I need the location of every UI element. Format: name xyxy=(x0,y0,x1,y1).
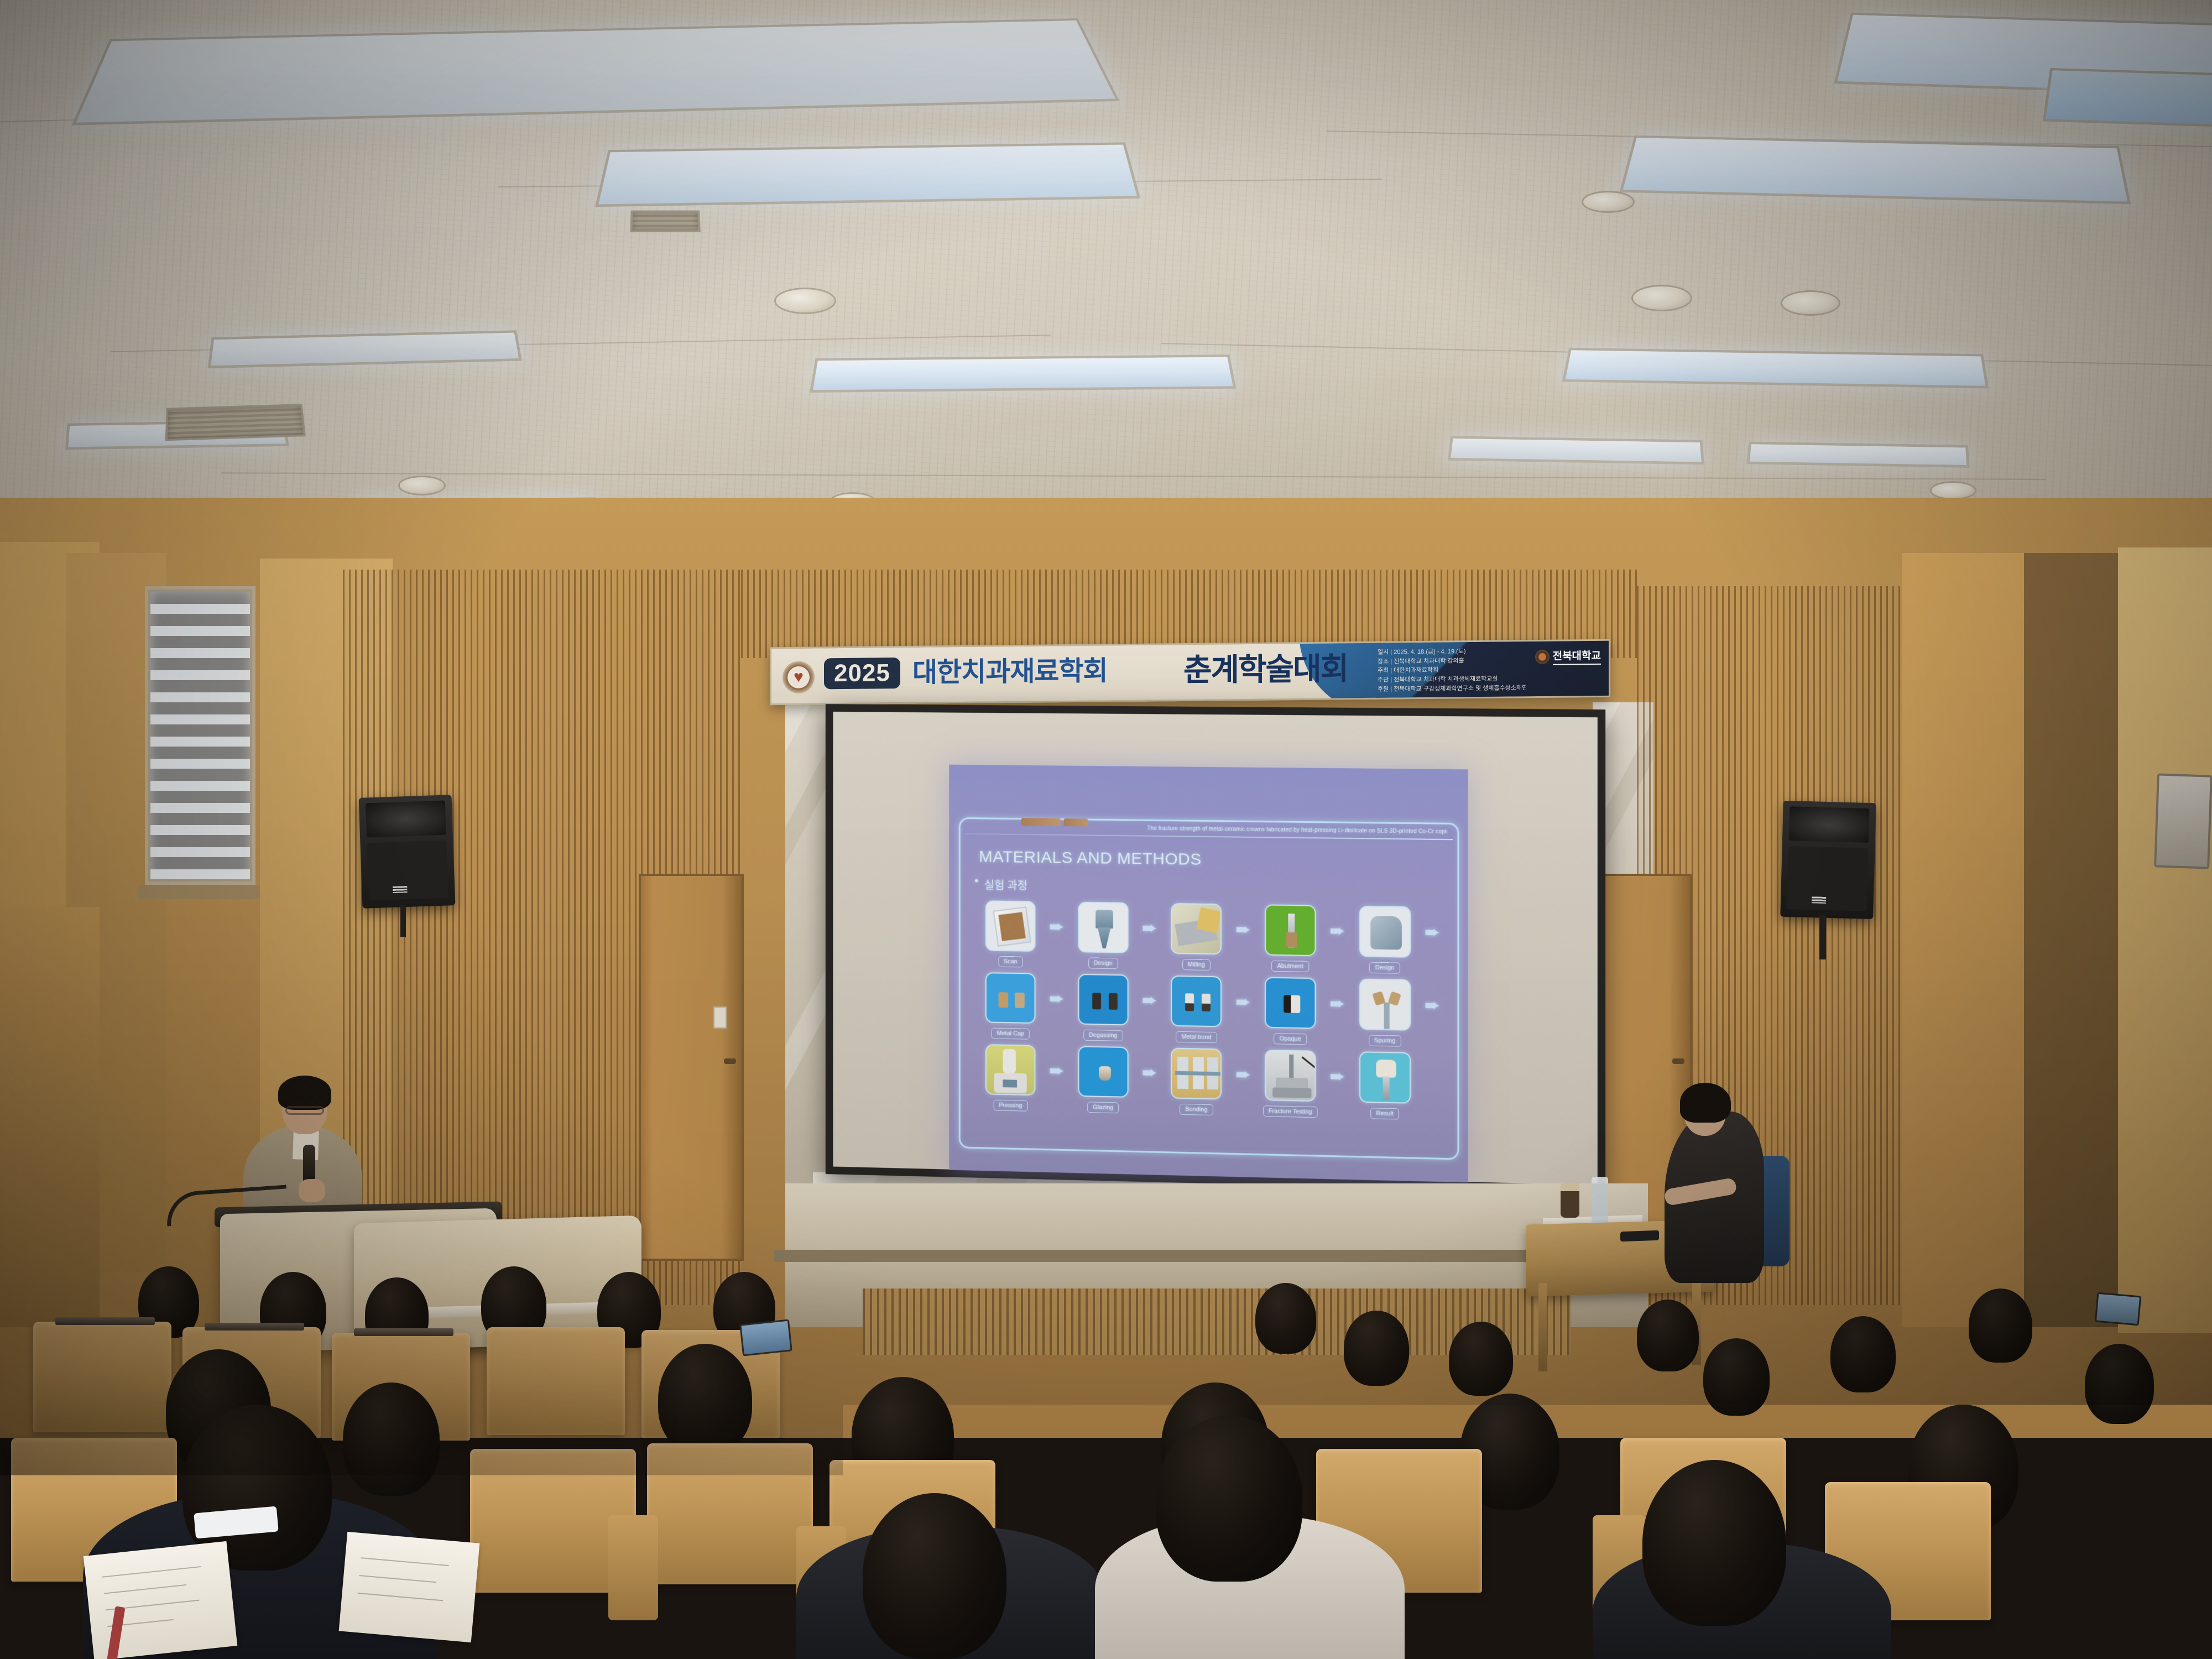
milling-tile xyxy=(1171,903,1222,954)
flow-arrow-icon: ➨ xyxy=(1137,1047,1162,1098)
slide-tab-decoration xyxy=(1021,818,1061,826)
flow-arrow-icon: ➨ xyxy=(1325,978,1350,1030)
text-line xyxy=(104,1584,186,1594)
text-line xyxy=(358,1593,444,1601)
ceiling-light-panel xyxy=(1562,348,1989,389)
audience-tablet-device[interactable] xyxy=(2095,1292,2141,1326)
lecture-hall-photo: ♥ 2025 대한치과재료학회 춘계학술대회 일시 | 2025. 4. 18.… xyxy=(0,0,2212,1659)
text-line xyxy=(1785,1504,1894,1520)
metal-cap-tile xyxy=(985,972,1036,1024)
audience-head xyxy=(1637,1300,1699,1371)
audience-head xyxy=(1969,1288,2032,1363)
wall-mounted-monitor xyxy=(2154,773,2212,869)
speaker-mount-bracket xyxy=(400,905,406,937)
table-leg xyxy=(1538,1283,1547,1371)
seat-armrest xyxy=(608,1515,658,1620)
workflow-step-label: Bonding xyxy=(1180,1104,1213,1115)
slide-border-frame: The fracture strength of metal-ceramic c… xyxy=(959,817,1459,1160)
workflow-step-label: Glazing xyxy=(1087,1102,1119,1113)
audience-head xyxy=(1642,1460,1786,1626)
text-line xyxy=(102,1566,201,1578)
workflow-step-label: Metal Cap xyxy=(992,1028,1030,1040)
workflow-step-label: Design xyxy=(1088,957,1118,969)
ceiling-downlight xyxy=(1781,290,1840,316)
banner-info-sponsor: 후원 | 전북대학교 구강생체과학연구소 및 생체흡수성소재연구소 xyxy=(1378,684,1526,694)
ceiling-light-panel xyxy=(595,142,1140,207)
workflow-step-label: Abutment xyxy=(1272,961,1309,972)
seat-tablet-arm[interactable] xyxy=(55,1317,155,1325)
workflow-step: Metal bond xyxy=(1162,975,1230,1044)
stage-left-door[interactable] xyxy=(639,874,744,1261)
audience-head xyxy=(1449,1322,1513,1396)
workflow-step-label: Milling xyxy=(1182,959,1211,971)
result-tile xyxy=(1359,1051,1411,1103)
workflow-row: Scan ➨ Design ➨ xyxy=(977,900,1445,974)
flow-arrow-icon: ➨ xyxy=(1230,977,1255,1028)
door-handle[interactable] xyxy=(724,1058,736,1064)
pressing-tile xyxy=(985,1044,1036,1095)
workflow-step: Metal Cap xyxy=(977,972,1044,1040)
banner-title-secondary: 춘계학술대회 xyxy=(1183,650,1348,688)
left-wall-speaker xyxy=(359,795,456,909)
ceiling-light-panel xyxy=(1746,442,1970,468)
projection-screen: The fracture strength of metal-ceramic c… xyxy=(826,704,1605,1193)
ceiling-downlight xyxy=(1631,285,1692,311)
projected-slide: The fracture strength of metal-ceramic c… xyxy=(949,765,1468,1183)
marble-pillar-left xyxy=(785,702,830,1244)
abutment-tile xyxy=(1265,904,1316,956)
presenter-hand xyxy=(299,1179,325,1202)
speaker-woofer-grille xyxy=(1787,846,1869,911)
flow-arrow-icon: ➨ xyxy=(1420,979,1445,1031)
flow-arrow-icon: ➨ xyxy=(1137,975,1162,1026)
slide-running-head-rule xyxy=(965,833,1453,840)
ceiling-downlight xyxy=(1582,191,1635,213)
audience-head xyxy=(343,1383,440,1496)
ceiling-downlight xyxy=(774,288,836,314)
degassing-tile xyxy=(1078,974,1128,1025)
bonding-tile xyxy=(1171,1048,1222,1100)
audience-head xyxy=(2085,1344,2154,1424)
workflow-step-label: Degassing xyxy=(1083,1030,1123,1041)
audience-head xyxy=(1255,1283,1316,1354)
flow-arrow-icon: ➨ xyxy=(1230,1049,1255,1100)
workflow-step: Result xyxy=(1350,1051,1420,1120)
workflow-step: Bonding xyxy=(1162,1047,1230,1116)
flow-arrow-icon xyxy=(1420,1052,1445,1104)
audience-tablet-device[interactable] xyxy=(739,1319,792,1356)
window-frame xyxy=(145,586,255,885)
opaque-tile xyxy=(1265,977,1316,1029)
speaker-woofer-grille xyxy=(367,840,448,900)
text-line xyxy=(359,1575,436,1583)
speaker-brand-badge xyxy=(1812,896,1826,904)
workflow-step: Design xyxy=(1069,901,1137,969)
window-sill xyxy=(138,885,264,899)
slide-bullet-text: 실험 과정 xyxy=(984,877,1027,893)
workflow-step: Pressing xyxy=(977,1044,1044,1112)
paper-cup xyxy=(1561,1183,1579,1218)
text-line xyxy=(1787,1525,1886,1540)
glazing-tile xyxy=(1078,1046,1128,1098)
presenter-glasses-icon xyxy=(285,1106,324,1115)
workflow-step: Opaque xyxy=(1256,977,1325,1045)
flow-arrow-icon: ➨ xyxy=(1044,901,1069,952)
printed-program[interactable] xyxy=(339,1532,480,1642)
slide-tab-decoration xyxy=(1064,818,1088,826)
fracture-tile xyxy=(1265,1050,1316,1102)
speaker-mount-bracket xyxy=(1819,915,1826,959)
slide-heading: MATERIALS AND METHODS xyxy=(979,848,1202,869)
speaker-horn-tweeter xyxy=(366,801,446,838)
ceiling-light-panel xyxy=(1448,436,1705,465)
moderator-hair xyxy=(1680,1083,1731,1123)
workflow-step-label: Metal bond xyxy=(1176,1031,1217,1043)
workflow-step: Degassing xyxy=(1069,974,1137,1042)
banner-title-primary: 대한치과재료학회 xyxy=(912,655,1108,689)
ceiling-light-panel xyxy=(810,354,1236,393)
light-switch-plate[interactable] xyxy=(713,1006,727,1029)
scan-tile xyxy=(985,900,1036,952)
water-bottle xyxy=(1592,1177,1608,1225)
ceiling-air-vent xyxy=(630,210,701,232)
workflow-step-label: Scan xyxy=(998,956,1022,968)
university-seal-icon xyxy=(1535,649,1550,664)
audience-head xyxy=(1830,1316,1896,1392)
university-name: 전북대학교 xyxy=(1553,648,1601,665)
smartphone[interactable] xyxy=(1620,1230,1659,1241)
slide-running-head: The fracture strength of metal-ceramic c… xyxy=(1147,826,1447,835)
ceiling-air-vent xyxy=(165,404,306,441)
university-logo: 전북대학교 xyxy=(1535,648,1601,665)
workflow-row: Pressing ➨ Glazing ➨ xyxy=(977,1044,1445,1121)
audience-head xyxy=(863,1493,1006,1659)
workflow-step-label: Result xyxy=(1370,1108,1399,1119)
ceiling-downlight xyxy=(1930,481,1976,500)
workflow-step: Design xyxy=(1350,906,1420,974)
spuring-tile xyxy=(1359,979,1411,1031)
workflow-step-label: Pressing xyxy=(993,1100,1027,1112)
text-line xyxy=(361,1557,449,1566)
door-handle[interactable] xyxy=(1672,1058,1684,1064)
wall-right-panel xyxy=(2118,547,2212,1333)
banner-info-lines: 일시 | 2025. 4. 18.(금) - 4. 19.(토) 장소 | 전북… xyxy=(1378,646,1526,694)
speaker-horn-tweeter xyxy=(1789,806,1870,843)
auditorium-seat[interactable] xyxy=(487,1327,625,1435)
wall-left-lower xyxy=(0,907,100,1327)
dental-society-emblem-icon: ♥ xyxy=(782,661,815,694)
conference-banner: ♥ 2025 대한치과재료학회 춘계학술대회 일시 | 2025. 4. 18.… xyxy=(770,639,1610,706)
ceiling-light-panel xyxy=(1619,135,2131,204)
auditorium-seat[interactable] xyxy=(647,1443,813,1584)
seat-tablet-arm[interactable] xyxy=(205,1323,304,1331)
audience-head xyxy=(658,1344,752,1454)
audience-head xyxy=(1703,1338,1770,1416)
text-line xyxy=(1790,1543,1897,1559)
workflow-step-label: Opaque xyxy=(1274,1033,1306,1045)
flow-arrow-icon: ➨ xyxy=(1420,906,1445,958)
flow-arrow-icon: ➨ xyxy=(1044,973,1069,1024)
ceiling-downlight xyxy=(398,476,446,495)
flow-arrow-icon: ➨ xyxy=(1325,1051,1350,1102)
printed-program[interactable] xyxy=(1762,1471,1943,1615)
workflow-step: Milling xyxy=(1162,903,1230,971)
workflow-step-label: Fracture Testing xyxy=(1263,1105,1318,1118)
design-tile xyxy=(1078,902,1128,953)
wall-right-panel xyxy=(1902,553,2041,1327)
workflow-step: Abutment xyxy=(1256,904,1325,972)
flow-arrow-icon: ➨ xyxy=(1230,904,1255,956)
metal-bond-tile xyxy=(1171,975,1222,1027)
flow-arrow-icon: ➨ xyxy=(1137,902,1162,953)
design2-tile xyxy=(1359,906,1411,958)
workflow-step-label: Spuring xyxy=(1369,1035,1401,1046)
speaker-brand-badge xyxy=(393,886,407,893)
workflow-step-label: Design xyxy=(1370,962,1400,974)
seat-tablet-arm[interactable] xyxy=(354,1328,453,1336)
workflow-diagram: Scan ➨ Design ➨ xyxy=(977,900,1445,1126)
right-wall-speaker xyxy=(1780,801,1876,919)
flow-arrow-icon: ➨ xyxy=(1044,1045,1069,1096)
window-blinds[interactable] xyxy=(150,592,250,879)
flow-arrow-icon: ➨ xyxy=(1325,905,1350,957)
audience-head xyxy=(1156,1416,1302,1582)
workflow-row: Metal Cap ➨ Degassing ➨ xyxy=(977,972,1445,1047)
presenter-hair xyxy=(278,1076,331,1110)
workflow-step: Scan xyxy=(977,900,1044,968)
auditorium-seat[interactable] xyxy=(33,1322,171,1432)
workflow-step: Spuring xyxy=(1350,978,1420,1047)
ceiling-light-panel xyxy=(2043,68,2212,128)
audience-head xyxy=(1344,1311,1409,1386)
audience-head xyxy=(1991,1471,2129,1637)
workflow-step: Fracture Testing xyxy=(1256,1050,1325,1118)
banner-year-badge: 2025 xyxy=(824,658,900,689)
printed-program[interactable] xyxy=(84,1541,237,1659)
workflow-step: Glazing xyxy=(1069,1046,1137,1114)
text-line xyxy=(1793,1567,1875,1579)
